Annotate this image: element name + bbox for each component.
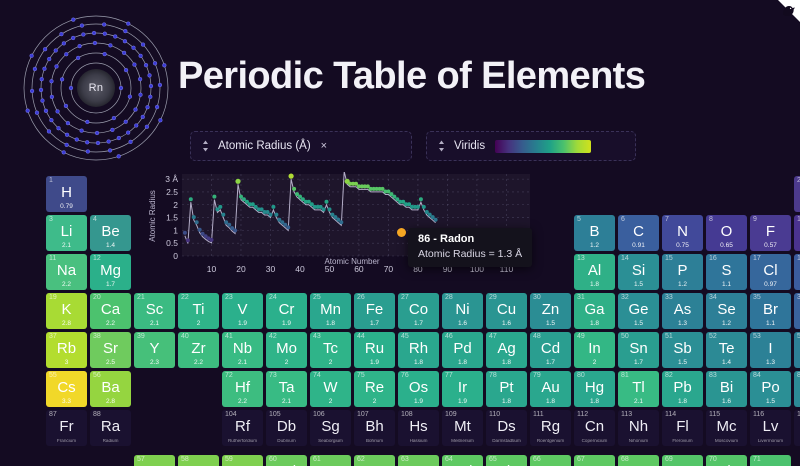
element-name: Copernicium bbox=[574, 439, 615, 444]
element-cell-tm[interactable]: 69Tm2.4 bbox=[662, 455, 703, 466]
element-symbol: Tl bbox=[618, 380, 659, 395]
chart-point[interactable] bbox=[301, 197, 305, 201]
element-cell-h[interactable]: 1H0.79 bbox=[46, 176, 87, 212]
chart-point[interactable] bbox=[242, 197, 246, 201]
element-symbol: Lv bbox=[750, 419, 791, 434]
element-cell-cn[interactable]: 112CnCopernicium bbox=[574, 410, 615, 446]
element-value: 1.5 bbox=[618, 282, 659, 289]
element-cell-ra[interactable]: 88RaRadium bbox=[90, 410, 131, 446]
element-number: 75 bbox=[357, 372, 365, 379]
element-cell-cs[interactable]: 55Cs3.3 bbox=[46, 371, 87, 407]
element-number: 17 bbox=[753, 255, 761, 262]
chart-point[interactable] bbox=[328, 207, 332, 211]
element-number: 40 bbox=[181, 333, 189, 340]
chart-point[interactable] bbox=[271, 205, 275, 209]
element-cell-sr[interactable]: 38Sr2.5 bbox=[90, 332, 131, 368]
chart-point[interactable] bbox=[339, 220, 343, 224]
element-value: 2.2 bbox=[222, 399, 263, 406]
element-number: 41 bbox=[225, 333, 233, 340]
element-cell-bi[interactable]: 83Bi1.6 bbox=[706, 371, 747, 407]
element-symbol: Ag bbox=[486, 341, 527, 356]
element-cell-s[interactable]: 16S1.1 bbox=[706, 254, 747, 290]
element-number: 69 bbox=[665, 456, 673, 463]
element-cell-la[interactable]: 57La2.7 bbox=[134, 455, 175, 466]
element-cell-f[interactable]: 9F0.57 bbox=[750, 215, 791, 251]
element-cell-nb[interactable]: 41Nb2.1 bbox=[222, 332, 263, 368]
element-cell-nd[interactable]: 60Nd2.6 bbox=[266, 455, 307, 466]
element-symbol: Db bbox=[266, 419, 307, 434]
element-number: 83 bbox=[709, 372, 717, 379]
chart-point[interactable] bbox=[292, 187, 296, 191]
element-cell-au[interactable]: 79Au1.8 bbox=[530, 371, 571, 407]
element-cell-n[interactable]: 7N0.75 bbox=[662, 215, 703, 251]
element-cell-cd[interactable]: 48Cd1.7 bbox=[530, 332, 571, 368]
element-symbol: Mt bbox=[442, 419, 483, 434]
periodic-row: 55Cs3.356Ba2.872Hf2.273Ta2.174W275Re276O… bbox=[46, 371, 800, 407]
element-number: 110 bbox=[489, 411, 500, 418]
element-cell-ce[interactable]: 58Ce2.7 bbox=[178, 455, 219, 466]
element-number: 46 bbox=[445, 333, 453, 340]
element-cell-al[interactable]: 13Al1.8 bbox=[574, 254, 615, 290]
element-value: 0.75 bbox=[662, 243, 703, 250]
property-select-label: Atomic Radius (Å) bbox=[218, 140, 311, 152]
element-number: 25 bbox=[313, 294, 321, 301]
element-cell-i[interactable]: 53I1.3 bbox=[750, 332, 791, 368]
element-number: 38 bbox=[93, 333, 101, 340]
element-value: 0.97 bbox=[750, 282, 791, 289]
element-cell-b[interactable]: 5B1.2 bbox=[574, 215, 615, 251]
element-symbol: Y bbox=[134, 341, 175, 356]
element-number: 34 bbox=[709, 294, 717, 301]
element-value: 2.2 bbox=[178, 360, 219, 367]
corner-badge[interactable] bbox=[744, 0, 800, 36]
element-value: 1.9 bbox=[442, 399, 483, 406]
element-symbol: Rg bbox=[530, 419, 571, 434]
element-number: 78 bbox=[489, 372, 497, 379]
chart-point[interactable] bbox=[212, 195, 216, 199]
element-cell-ba[interactable]: 56Ba2.8 bbox=[90, 371, 131, 407]
element-cell-lu[interactable]: 71Lu2.3 bbox=[750, 455, 791, 466]
element-number: 28 bbox=[445, 294, 453, 301]
element-value: 1.8 bbox=[662, 399, 703, 406]
element-name: Nihonium bbox=[618, 439, 659, 444]
element-cell-rg[interactable]: 111RgRoentgenium bbox=[530, 410, 571, 446]
element-symbol: Ds bbox=[486, 419, 527, 434]
periodic-row: 87FrFrancium88RaRadium104RfRutherfordium… bbox=[46, 410, 800, 446]
element-symbol: Po bbox=[750, 380, 791, 395]
element-number: 63 bbox=[401, 456, 409, 463]
element-cell-xe[interactable]: 54Xe1.2 bbox=[794, 332, 800, 368]
chart-point[interactable] bbox=[260, 207, 264, 211]
element-cell-cu[interactable]: 29Cu1.6 bbox=[486, 293, 527, 329]
element-cell-tb[interactable]: 65Tb2.5 bbox=[486, 455, 527, 466]
element-number: 77 bbox=[445, 372, 453, 379]
element-name: Rutherfordium bbox=[222, 439, 263, 444]
element-cell-se[interactable]: 34Se1.2 bbox=[706, 293, 747, 329]
element-cell-cr[interactable]: 24Cr1.9 bbox=[266, 293, 307, 329]
element-cell-na[interactable]: 11Na2.2 bbox=[46, 254, 87, 290]
element-number: 59 bbox=[225, 456, 233, 463]
element-symbol: Na bbox=[46, 263, 87, 278]
element-cell-ir[interactable]: 77Ir1.9 bbox=[442, 371, 483, 407]
element-value: 2.5 bbox=[90, 360, 131, 367]
chart-ytick: 2 bbox=[173, 200, 178, 210]
chart-point[interactable] bbox=[221, 213, 225, 217]
element-cell-sg[interactable]: 106SgSeaborgium bbox=[310, 410, 351, 446]
element-cell-ts[interactable]: 117TsTennessine bbox=[794, 410, 800, 446]
element-cell-lv[interactable]: 116LvLivermorium bbox=[750, 410, 791, 446]
element-symbol: Fl bbox=[662, 419, 703, 434]
element-cell-mt[interactable]: 109MtMeitnerium bbox=[442, 410, 483, 446]
element-value: 2 bbox=[310, 399, 351, 406]
element-value: 1.8 bbox=[310, 321, 351, 328]
element-cell-dy[interactable]: 66Dy2.5 bbox=[530, 455, 571, 466]
element-symbol: F bbox=[750, 224, 791, 239]
element-symbol: Hg bbox=[574, 380, 615, 395]
element-value: 1.8 bbox=[574, 321, 615, 328]
element-value: 2 bbox=[266, 360, 307, 367]
element-symbol: C bbox=[618, 224, 659, 239]
element-number: 80 bbox=[577, 372, 585, 379]
chart-point[interactable] bbox=[198, 228, 202, 232]
colormap-select[interactable]: Viridis bbox=[426, 131, 636, 161]
element-cell-ar[interactable]: 18Ar0.88 bbox=[794, 254, 800, 290]
element-cell-ds[interactable]: 110DsDarmstadtium bbox=[486, 410, 527, 446]
element-cell-hs[interactable]: 108HsHassium bbox=[398, 410, 439, 446]
table-spacer bbox=[134, 410, 219, 446]
element-number: 71 bbox=[753, 456, 761, 463]
element-symbol: Ba bbox=[90, 380, 131, 395]
chart-point[interactable] bbox=[186, 238, 190, 242]
colormap-select-label: Viridis bbox=[454, 140, 485, 152]
element-cell-pm[interactable]: 61Pm2.6 bbox=[310, 455, 351, 466]
element-symbol: Al bbox=[574, 263, 615, 278]
element-number: 42 bbox=[269, 333, 277, 340]
chart-xtick: 30 bbox=[266, 264, 276, 274]
element-number: 33 bbox=[665, 294, 673, 301]
element-cell-o[interactable]: 8O0.65 bbox=[706, 215, 747, 251]
chart-point[interactable] bbox=[434, 218, 438, 222]
element-value: 1.6 bbox=[442, 321, 483, 328]
element-symbol: Kr bbox=[794, 302, 800, 317]
element-symbol: Sg bbox=[310, 419, 351, 434]
element-symbol: Cr bbox=[266, 302, 307, 317]
element-value: 2 bbox=[354, 399, 395, 406]
element-symbol: W bbox=[310, 380, 351, 395]
element-number: 111 bbox=[533, 411, 544, 418]
element-cell-pd[interactable]: 46Pd1.8 bbox=[442, 332, 483, 368]
element-cell-yb[interactable]: 70Yb2.4 bbox=[706, 455, 747, 466]
element-value: 1.1 bbox=[706, 282, 747, 289]
element-value: 2.1 bbox=[46, 243, 87, 250]
element-cell-ta[interactable]: 73Ta2.1 bbox=[266, 371, 307, 407]
element-symbol: Sn bbox=[618, 341, 659, 356]
element-number: 88 bbox=[93, 411, 101, 418]
element-number: 112 bbox=[577, 411, 588, 418]
element-value: 1.2 bbox=[706, 321, 747, 328]
chart-highlight-dot bbox=[397, 228, 406, 237]
chart-point[interactable] bbox=[269, 213, 273, 217]
bohr-model-svg bbox=[16, 8, 176, 168]
element-number: 19 bbox=[49, 294, 57, 301]
chart-point[interactable] bbox=[289, 174, 294, 179]
element-cell-pr[interactable]: 59Pr2.7 bbox=[222, 455, 263, 466]
chart-point[interactable] bbox=[386, 190, 390, 194]
element-number: 37 bbox=[49, 333, 57, 340]
chart-point[interactable] bbox=[325, 200, 329, 204]
chart-xlabel: Atomic Number bbox=[324, 257, 379, 266]
element-value: 1.8 bbox=[398, 360, 439, 367]
element-symbol: Sb bbox=[662, 341, 703, 356]
element-value: 1.5 bbox=[530, 321, 571, 328]
element-number: 105 bbox=[269, 411, 281, 418]
element-cell-ho[interactable]: 67Ho2.5 bbox=[574, 455, 615, 466]
element-number: 56 bbox=[93, 372, 101, 379]
chart-point[interactable] bbox=[322, 207, 326, 211]
element-cell-sm[interactable]: 62Sm2.6 bbox=[354, 455, 395, 466]
element-cell-bh[interactable]: 107BhBohrium bbox=[354, 410, 395, 446]
element-cell-k[interactable]: 19K2.8 bbox=[46, 293, 87, 329]
element-symbol: Ti bbox=[178, 302, 219, 317]
chart-ytick: 1.5 bbox=[166, 213, 178, 223]
chart-point[interactable] bbox=[266, 210, 270, 214]
element-cell-sn[interactable]: 50Sn1.7 bbox=[618, 332, 659, 368]
element-cell-mo[interactable]: 42Mo2 bbox=[266, 332, 307, 368]
element-symbol: As bbox=[662, 302, 703, 317]
element-cell-ag[interactable]: 47Ag1.8 bbox=[486, 332, 527, 368]
element-cell-er[interactable]: 68Er2.5 bbox=[618, 455, 659, 466]
element-cell-hg[interactable]: 80Hg1.8 bbox=[574, 371, 615, 407]
chart-point[interactable] bbox=[183, 231, 187, 235]
element-value: 1.1 bbox=[750, 321, 791, 328]
element-number: 21 bbox=[137, 294, 145, 301]
element-symbol: Fr bbox=[46, 419, 87, 434]
chart-point[interactable] bbox=[419, 197, 423, 201]
element-cell-ge[interactable]: 32Ge1.5 bbox=[618, 293, 659, 329]
element-value: 1.4 bbox=[90, 243, 131, 250]
element-number: 8 bbox=[709, 216, 713, 223]
element-value: 1.9 bbox=[222, 321, 263, 328]
element-value: 2 bbox=[574, 360, 615, 367]
chart-point[interactable] bbox=[277, 218, 281, 222]
element-number: 53 bbox=[753, 333, 761, 340]
controls-bar: Atomic Radius (Å) × Viridis bbox=[190, 131, 636, 161]
element-cell-ca[interactable]: 20Ca2.2 bbox=[90, 293, 131, 329]
chart-xtick: 20 bbox=[236, 264, 246, 274]
element-cell-rb[interactable]: 37Rb3 bbox=[46, 332, 87, 368]
element-cell-db[interactable]: 105DbDubnium bbox=[266, 410, 307, 446]
element-symbol: Rh bbox=[398, 341, 439, 356]
element-value: 1.7 bbox=[398, 321, 439, 328]
element-cell-he[interactable]: 2He0.49 bbox=[794, 176, 800, 212]
element-value: 1.8 bbox=[530, 399, 571, 406]
element-number: 74 bbox=[313, 372, 321, 379]
element-symbol: Hs bbox=[398, 419, 439, 434]
element-cell-cl[interactable]: 17Cl0.97 bbox=[750, 254, 791, 290]
element-value: 2.1 bbox=[618, 399, 659, 406]
element-cell-pb[interactable]: 82Pb1.8 bbox=[662, 371, 703, 407]
element-cell-tl[interactable]: 81Tl2.1 bbox=[618, 371, 659, 407]
element-symbol: Sr bbox=[90, 341, 131, 356]
element-cell-co[interactable]: 27Co1.7 bbox=[398, 293, 439, 329]
element-symbol: Fe bbox=[354, 302, 395, 317]
element-cell-eu[interactable]: 63Eu2.6 bbox=[398, 455, 439, 466]
element-cell-tc[interactable]: 43Tc2 bbox=[310, 332, 351, 368]
element-cell-ga[interactable]: 31Ga1.8 bbox=[574, 293, 615, 329]
element-name: Flerovium bbox=[662, 439, 703, 444]
element-cell-c[interactable]: 6C0.91 bbox=[618, 215, 659, 251]
element-symbol: Be bbox=[90, 224, 131, 239]
element-number: 61 bbox=[313, 456, 321, 463]
chart-xtick: 10 bbox=[207, 264, 217, 274]
element-cell-sb[interactable]: 51Sb1.5 bbox=[662, 332, 703, 368]
element-cell-y[interactable]: 39Y2.3 bbox=[134, 332, 175, 368]
element-number: 67 bbox=[577, 456, 585, 463]
element-value: 2.1 bbox=[134, 321, 175, 328]
element-number: 31 bbox=[577, 294, 585, 301]
element-cell-w[interactable]: 74W2 bbox=[310, 371, 351, 407]
element-number: 52 bbox=[709, 333, 717, 340]
element-number: 51 bbox=[665, 333, 673, 340]
element-cell-v[interactable]: 23V1.9 bbox=[222, 293, 263, 329]
chart-point[interactable] bbox=[235, 179, 240, 184]
chart-point[interactable] bbox=[233, 229, 237, 233]
element-cell-p[interactable]: 15P1.2 bbox=[662, 254, 703, 290]
bohr-model-diagram: Rn bbox=[16, 8, 176, 168]
element-cell-mg[interactable]: 12Mg1.7 bbox=[90, 254, 131, 290]
element-symbol: Sc bbox=[134, 302, 175, 317]
element-cell-br[interactable]: 35Br1.1 bbox=[750, 293, 791, 329]
element-number: 55 bbox=[49, 372, 57, 379]
element-cell-fe[interactable]: 26Fe1.7 bbox=[354, 293, 395, 329]
element-value: 0.49 bbox=[794, 204, 800, 211]
element-number: 43 bbox=[313, 333, 321, 340]
element-value: 1.8 bbox=[574, 282, 615, 289]
element-value: 1.8 bbox=[486, 360, 527, 367]
element-cell-zr[interactable]: 40Zr2.2 bbox=[178, 332, 219, 368]
element-value: 1.9 bbox=[354, 360, 395, 367]
element-cell-as[interactable]: 33As1.3 bbox=[662, 293, 703, 329]
element-number: 68 bbox=[621, 456, 629, 463]
element-cell-pt[interactable]: 78Pt1.8 bbox=[486, 371, 527, 407]
element-cell-at[interactable]: 85At1.4 bbox=[794, 371, 800, 407]
element-symbol: Mn bbox=[310, 302, 351, 317]
chart-ytick: 2.5 bbox=[166, 187, 178, 197]
element-symbol: Se bbox=[706, 302, 747, 317]
table-spacer bbox=[134, 371, 219, 407]
element-cell-kr[interactable]: 36Kr1 bbox=[794, 293, 800, 329]
element-symbol: V bbox=[222, 302, 263, 317]
element-number: 64 bbox=[445, 456, 453, 463]
element-name: Seaborgium bbox=[310, 439, 351, 444]
element-cell-hf[interactable]: 72Hf2.2 bbox=[222, 371, 263, 407]
element-value: 1.6 bbox=[486, 321, 527, 328]
chart-point[interactable] bbox=[210, 238, 214, 242]
chart-point[interactable] bbox=[336, 218, 340, 222]
tooltip-detail: Atomic Radius = 1.3 Å bbox=[418, 248, 522, 260]
element-value: 0.91 bbox=[618, 243, 659, 250]
element-number: 104 bbox=[225, 411, 237, 418]
element-cell-ni[interactable]: 28Ni1.6 bbox=[442, 293, 483, 329]
element-symbol: Co bbox=[398, 302, 439, 317]
element-number: 76 bbox=[401, 372, 409, 379]
element-cell-mc[interactable]: 115McMoscovium bbox=[706, 410, 747, 446]
element-cell-rf[interactable]: 104RfRutherfordium bbox=[222, 410, 263, 446]
periodic-row: 57La2.758Ce2.759Pr2.760Nd2.661Pm2.662Sm2… bbox=[46, 455, 800, 466]
chart-point[interactable] bbox=[227, 223, 231, 227]
element-value: 2.2 bbox=[46, 282, 87, 289]
chart-point[interactable] bbox=[416, 205, 420, 209]
chart-point[interactable] bbox=[392, 195, 396, 199]
element-cell-be[interactable]: 4Be1.4 bbox=[90, 215, 131, 251]
element-cell-sc[interactable]: 21Sc2.1 bbox=[134, 293, 175, 329]
element-symbol: Te bbox=[706, 341, 747, 356]
chart-point[interactable] bbox=[218, 205, 222, 209]
element-name: Meitnerium bbox=[442, 439, 483, 444]
chart-point[interactable] bbox=[195, 220, 199, 224]
element-number: 87 bbox=[49, 411, 57, 418]
element-cell-zn[interactable]: 30Zn1.5 bbox=[530, 293, 571, 329]
element-number: 24 bbox=[269, 294, 277, 301]
element-symbol: Mc bbox=[706, 419, 747, 434]
element-symbol: Zn bbox=[530, 302, 571, 317]
element-value: 1.4 bbox=[794, 399, 800, 406]
element-cell-po[interactable]: 84Po1.5 bbox=[750, 371, 791, 407]
property-select[interactable]: Atomic Radius (Å) × bbox=[190, 131, 412, 161]
element-symbol: Mo bbox=[266, 341, 307, 356]
property-clear-icon[interactable]: × bbox=[321, 140, 327, 152]
element-cell-gd[interactable]: 64Gd2.5 bbox=[442, 455, 483, 466]
element-number: 9 bbox=[753, 216, 757, 223]
element-symbol: Xe bbox=[794, 341, 800, 356]
chart-point[interactable] bbox=[189, 197, 193, 201]
element-cell-os[interactable]: 76Os1.9 bbox=[398, 371, 439, 407]
element-cell-si[interactable]: 14Si1.5 bbox=[618, 254, 659, 290]
chart-point[interactable] bbox=[286, 225, 290, 229]
element-symbol: Ni bbox=[442, 302, 483, 317]
element-symbol: Pb bbox=[662, 380, 703, 395]
element-number: 114 bbox=[665, 411, 676, 418]
element-cell-fr[interactable]: 87FrFrancium bbox=[46, 410, 87, 446]
element-cell-re[interactable]: 75Re2 bbox=[354, 371, 395, 407]
element-number: 62 bbox=[357, 456, 365, 463]
element-cell-fl[interactable]: 114FlFlerovium bbox=[662, 410, 703, 446]
element-cell-rh[interactable]: 45Rh1.8 bbox=[398, 332, 439, 368]
element-cell-mn[interactable]: 25Mn1.8 bbox=[310, 293, 351, 329]
element-symbol: Hf bbox=[222, 380, 263, 395]
element-symbol: He bbox=[794, 185, 800, 200]
chart-point[interactable] bbox=[274, 213, 278, 217]
chart-point[interactable] bbox=[192, 215, 196, 219]
chart-point[interactable] bbox=[422, 205, 426, 209]
element-symbol: Pd bbox=[442, 341, 483, 356]
element-value: 1.5 bbox=[618, 321, 659, 328]
element-value: 1.5 bbox=[750, 399, 791, 406]
element-cell-nh[interactable]: 113NhNihonium bbox=[618, 410, 659, 446]
element-cell-in[interactable]: 49In2 bbox=[574, 332, 615, 368]
element-symbol: Ga bbox=[574, 302, 615, 317]
element-cell-te[interactable]: 52Te1.4 bbox=[706, 332, 747, 368]
chart-point[interactable] bbox=[381, 187, 385, 191]
element-cell-ti[interactable]: 22Ti2 bbox=[178, 293, 219, 329]
element-name: Hassium bbox=[398, 439, 439, 444]
element-cell-ru[interactable]: 44Ru1.9 bbox=[354, 332, 395, 368]
element-cell-li[interactable]: 3Li2.1 bbox=[46, 215, 87, 251]
element-symbol: Ge bbox=[618, 302, 659, 317]
element-cell-ne[interactable]: 10Ne0.51 bbox=[794, 215, 800, 251]
element-number: 4 bbox=[93, 216, 97, 223]
element-value: 2.1 bbox=[266, 399, 307, 406]
